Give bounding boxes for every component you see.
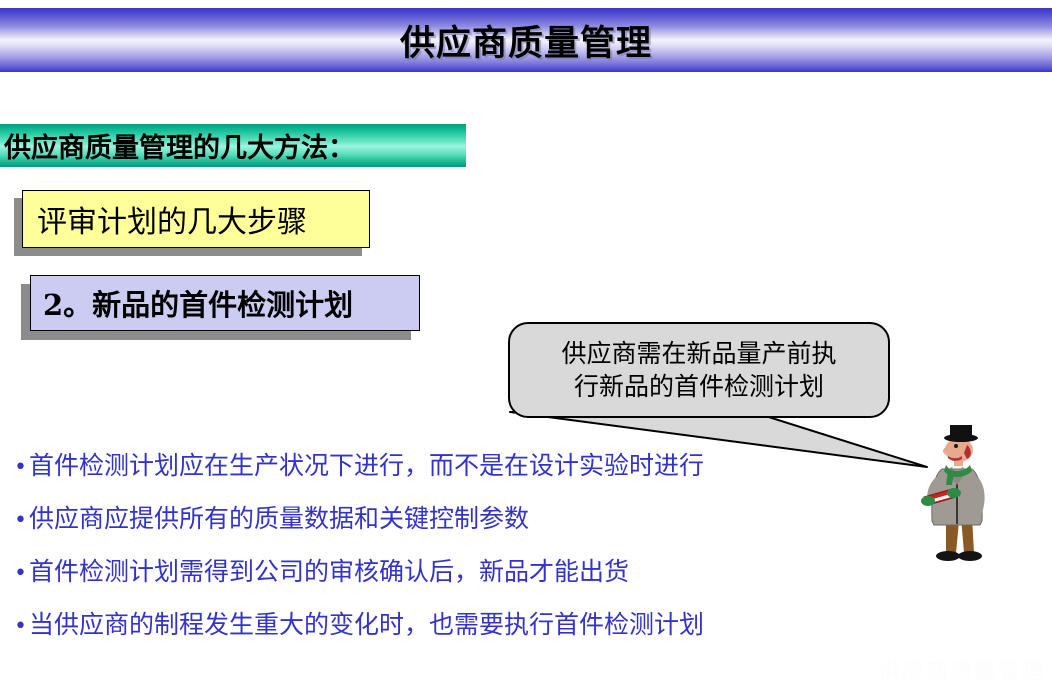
bullet-marker-icon: • (14, 616, 27, 638)
section-heading-text: 供应商质量管理的几大方法： (0, 126, 355, 165)
list-item: • 当供应商的制程发生重大的变化时，也需要执行首件检测计划 (14, 605, 914, 641)
bullet-marker-icon: • (14, 457, 27, 479)
list-item-text: 供应商应提供所有的质量数据和关键控制参数 (29, 499, 529, 535)
numbered-section-box: 2。新品的首件检测计划 (30, 275, 420, 331)
cartoon-gentleman-icon (912, 425, 1008, 575)
list-item-text: 当供应商的制程发生重大的变化时，也需要执行首件检测计划 (29, 605, 704, 641)
subheading-box-text: 评审计划的几大步骤 (23, 197, 307, 241)
callout-group: 供应商需在新品量产前执 行新品的首件检测计划 (490, 312, 940, 482)
bullet-marker-icon: • (14, 563, 27, 585)
watermark-text: 供应商质量管理 (878, 654, 1046, 686)
callout-bubble: 供应商需在新品量产前执 行新品的首件检测计划 (508, 322, 890, 418)
slide-title-banner: 供应商质量管理 (0, 8, 1052, 72)
page-title: 供应商质量管理 (400, 15, 652, 66)
subheading-box: 评审计划的几大步骤 (22, 190, 370, 248)
list-item: • 供应商应提供所有的质量数据和关键控制参数 (14, 499, 914, 535)
section-heading-banner: 供应商质量管理的几大方法： (0, 124, 466, 167)
numbered-section-box-text: 2。新品的首件检测计划 (31, 282, 353, 324)
bullet-marker-icon: • (14, 510, 27, 532)
list-item-text: 首件检测计划需得到公司的审核确认后，新品才能出货 (29, 552, 629, 588)
callout-line-1: 供应商需在新品量产前执 (561, 337, 836, 370)
list-item: • 首件检测计划需得到公司的审核确认后，新品才能出货 (14, 552, 914, 588)
callout-line-2: 行新品的首件检测计划 (574, 370, 824, 403)
